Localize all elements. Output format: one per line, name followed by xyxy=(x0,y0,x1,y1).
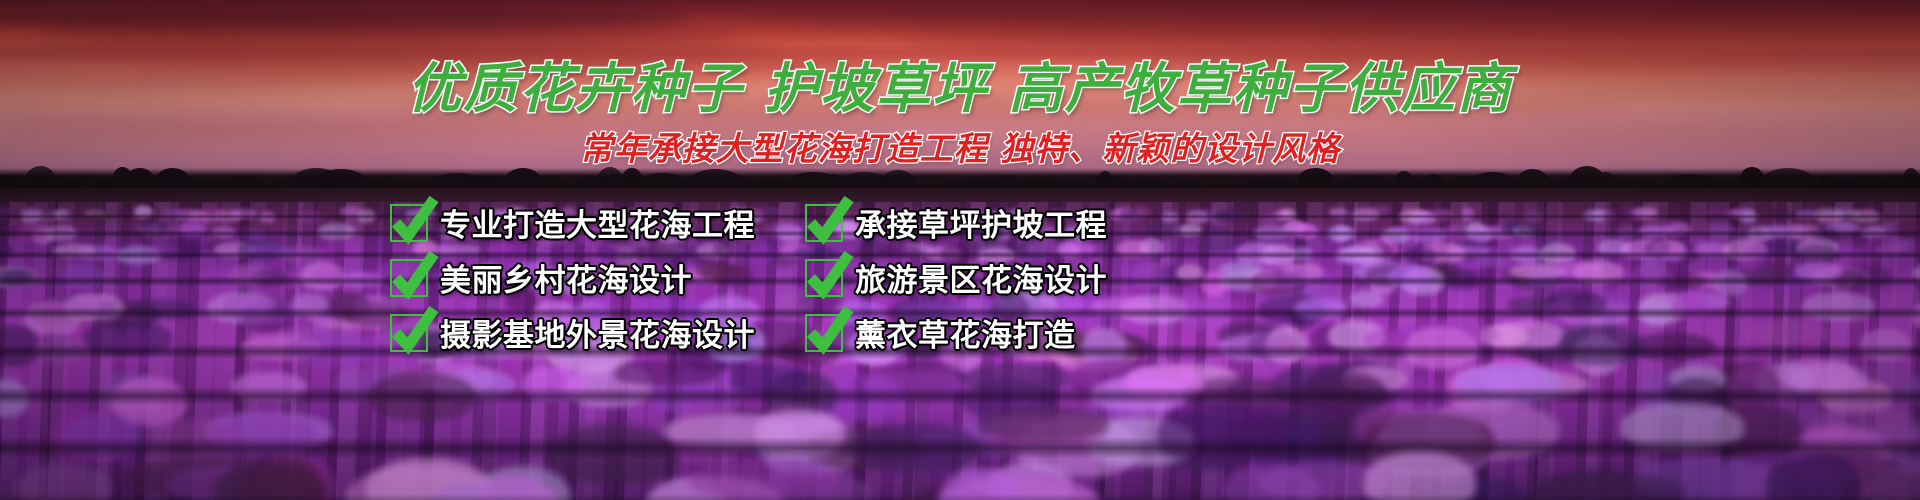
feature-item: 旅游景区花海设计 xyxy=(805,255,1150,300)
feature-item: 美丽乡村花海设计 xyxy=(390,255,805,300)
feature-label: 专业打造大型花海工程 xyxy=(440,200,755,245)
check-mark-icon xyxy=(805,259,843,297)
check-mark-icon xyxy=(390,204,428,242)
feature-label: 旅游景区花海设计 xyxy=(855,255,1107,300)
page-subtitle: 常年承接大型花海打造工程 独特、新颖的设计风格 xyxy=(0,122,1920,170)
check-mark-icon xyxy=(390,314,428,352)
feature-label: 承接草坪护坡工程 xyxy=(855,200,1107,245)
feature-label: 美丽乡村花海设计 xyxy=(440,255,692,300)
feature-item: 承接草坪护坡工程 xyxy=(805,200,1150,245)
feature-label: 摄影基地外景花海设计 xyxy=(440,310,755,355)
promo-banner: 优质花卉种子 护坡草坪 高产牧草种子供应商 常年承接大型花海打造工程 独特、新颖… xyxy=(0,0,1920,500)
feature-item: 专业打造大型花海工程 xyxy=(390,200,805,245)
feature-row: 美丽乡村花海设计 旅游景区花海设计 xyxy=(390,251,1150,304)
feature-row: 摄影基地外景花海设计 薰衣草花海打造 xyxy=(390,306,1150,359)
feature-item: 薰衣草花海打造 xyxy=(805,310,1150,355)
check-mark-icon xyxy=(805,204,843,242)
page-title: 优质花卉种子 护坡草坪 高产牧草种子供应商 xyxy=(0,44,1920,123)
check-mark-icon xyxy=(390,259,428,297)
feature-list: 专业打造大型花海工程 承接草坪护坡工程 xyxy=(390,196,1150,361)
check-mark-icon xyxy=(805,314,843,352)
feature-label: 薰衣草花海打造 xyxy=(855,310,1076,355)
feature-item: 摄影基地外景花海设计 xyxy=(390,310,805,355)
feature-row: 专业打造大型花海工程 承接草坪护坡工程 xyxy=(390,196,1150,249)
